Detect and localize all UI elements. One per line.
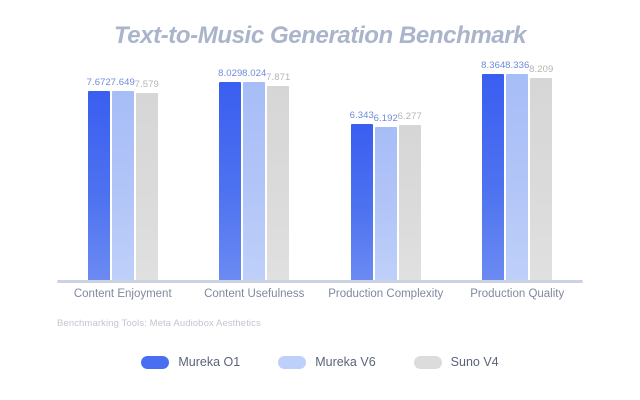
bar-value-label: 7.672 [87,77,111,88]
bar[interactable] [375,127,397,280]
bar-value-label: 8.209 [529,64,553,75]
bar[interactable] [482,74,504,280]
chart-legend: Mureka O1Mureka V6Suno V4 [0,355,640,369]
bar-group: 8.0298.0247.871 [219,58,289,280]
legend-swatch-icon [278,356,306,369]
bar[interactable] [351,124,373,280]
bar-column: 7.871 [267,58,289,280]
chart-card: Text-to-Music Generation Benchmark 7.672… [0,0,640,400]
legend-item[interactable]: Mureka O1 [141,355,240,369]
bar[interactable] [219,82,241,280]
bar[interactable] [530,78,552,280]
bar-group: 8.3648.3368.209 [482,58,552,280]
bar[interactable] [506,74,528,280]
bar-column: 7.649 [112,58,134,280]
bar[interactable] [88,91,110,280]
bar-value-label: 6.277 [398,111,422,122]
x-axis-tick-label: Production Quality [470,288,564,300]
x-axis-tick-label: Production Complexity [328,288,443,300]
bar-column: 8.364 [482,58,504,280]
bar-value-label: 7.871 [266,72,290,83]
bar-column: 8.024 [243,58,265,280]
x-axis-baseline [57,280,583,283]
legend-label: Mureka V6 [315,355,375,369]
bar[interactable] [136,93,158,280]
bar-column: 6.343 [351,58,373,280]
plot-area: 7.6727.6497.5798.0298.0247.8716.3436.192… [57,58,583,280]
legend-item[interactable]: Mureka V6 [278,355,375,369]
x-axis-category-labels: Content EnjoymentContent UsefulnessProdu… [57,288,583,308]
bar-column: 8.029 [219,58,241,280]
chart-title: Text-to-Music Generation Benchmark [0,22,640,50]
bar-value-label: 6.343 [350,110,374,121]
bar-value-label: 7.579 [135,79,159,90]
bar-value-label: 6.192 [374,113,398,124]
bar-column: 7.579 [136,58,158,280]
bar-group: 7.6727.6497.579 [88,58,158,280]
x-axis-tick-label: Content Usefulness [204,288,304,300]
bar-group: 6.3436.1926.277 [351,58,421,280]
chart-footnote: Benchmarking Tools: Meta Audiobox Aesthe… [57,318,261,329]
bar[interactable] [399,125,421,280]
bar-column: 6.277 [399,58,421,280]
legend-swatch-icon [141,356,169,369]
bar[interactable] [243,82,265,280]
bar[interactable] [112,91,134,280]
bar-column: 8.336 [506,58,528,280]
legend-label: Suno V4 [451,355,499,369]
bar-value-label: 8.336 [505,60,529,71]
bar-column: 6.192 [375,58,397,280]
bar-value-label: 8.364 [481,60,505,71]
bar[interactable] [267,86,289,280]
legend-item[interactable]: Suno V4 [414,355,499,369]
bar-value-label: 7.649 [111,77,135,88]
legend-swatch-icon [414,356,442,369]
bar-value-label: 8.024 [242,68,266,79]
x-axis-tick-label: Content Enjoyment [74,288,172,300]
bar-column: 8.209 [530,58,552,280]
bar-column: 7.672 [88,58,110,280]
bar-value-label: 8.029 [218,68,242,79]
legend-label: Mureka O1 [178,355,240,369]
